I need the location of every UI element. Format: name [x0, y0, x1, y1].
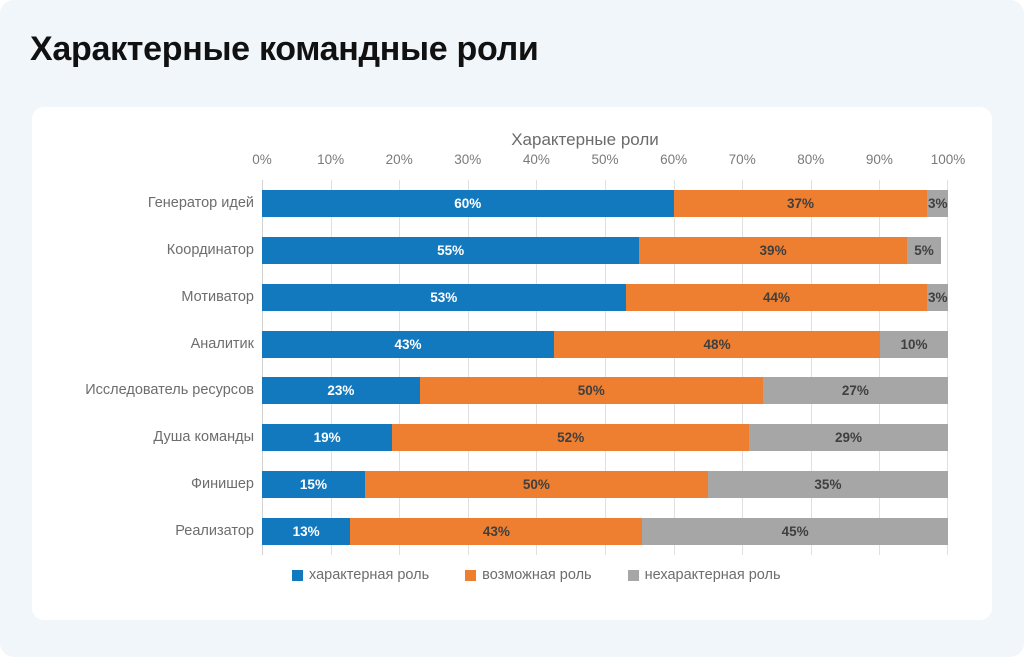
legend-item[interactable]: характерная роль	[292, 567, 429, 583]
category-label: Душа команды	[153, 424, 254, 451]
chart-title-text: Характерные роли	[511, 130, 659, 149]
page-root: Характерные командные роли Характерные р…	[0, 0, 1024, 657]
bar-segment[interactable]: 39%	[639, 237, 907, 264]
bar-row[interactable]: 55%39%5%	[262, 237, 948, 264]
bar-segment[interactable]: 3%	[927, 190, 948, 217]
bar-segment[interactable]: 43%	[350, 518, 642, 545]
x-tick-label: 10%	[317, 152, 344, 167]
bar-segment[interactable]: 45%	[642, 518, 948, 545]
x-tick-label: 70%	[729, 152, 756, 167]
chart-legend: характерная рольвозможная рольнехарактер…	[262, 567, 948, 583]
x-tick-label: 40%	[523, 152, 550, 167]
bar-value-label: 10%	[901, 337, 928, 352]
bar-value-label: 5%	[914, 243, 934, 258]
bar-value-label: 53%	[430, 290, 457, 305]
bar-value-label: 15%	[300, 477, 327, 492]
bar-value-label: 13%	[293, 524, 320, 539]
category-label: Исследователь ресурсов	[85, 377, 254, 404]
bar-segment[interactable]: 53%	[262, 284, 626, 311]
bar-row[interactable]: 60%37%3%	[262, 190, 948, 217]
bar-segment[interactable]: 50%	[365, 471, 708, 498]
bar-segment[interactable]: 48%	[554, 331, 880, 358]
x-axis-tick-labels: 0%10%20%30%40%50%60%70%80%90%100%	[262, 152, 948, 170]
x-tick-label: 30%	[454, 152, 481, 167]
bar-value-label: 43%	[395, 337, 422, 352]
legend-label: возможная роль	[482, 567, 591, 583]
category-label: Аналитик	[191, 331, 254, 358]
bar-row[interactable]: 43%48%10%	[262, 331, 948, 358]
category-axis-labels: Генератор идейКоординаторМотиваторАналит…	[32, 180, 254, 555]
page-title: Характерные командные роли	[30, 30, 538, 69]
x-tick-label: 100%	[931, 152, 966, 167]
bar-segment[interactable]: 44%	[626, 284, 928, 311]
legend-item[interactable]: нехарактерная роль	[628, 567, 781, 583]
bar-segment[interactable]: 10%	[880, 331, 948, 358]
legend-label: нехарактерная роль	[645, 567, 781, 583]
category-label: Финишер	[191, 471, 254, 498]
bar-value-label: 3%	[928, 290, 948, 305]
bar-segment[interactable]: 19%	[262, 424, 392, 451]
x-tick-label: 80%	[797, 152, 824, 167]
bar-row[interactable]: 23%50%27%	[262, 377, 948, 404]
legend-swatch-icon	[292, 570, 303, 581]
x-tick-label: 60%	[660, 152, 687, 167]
bar-segment[interactable]: 3%	[927, 284, 948, 311]
legend-label: характерная роль	[309, 567, 429, 583]
bar-value-label: 50%	[523, 477, 550, 492]
bar-value-label: 55%	[437, 243, 464, 258]
bar-value-label: 35%	[814, 477, 841, 492]
bar-row[interactable]: 53%44%3%	[262, 284, 948, 311]
bar-segment[interactable]: 37%	[674, 190, 928, 217]
bar-value-label: 45%	[782, 524, 809, 539]
x-tick-label: 20%	[386, 152, 413, 167]
bar-segment[interactable]: 50%	[420, 377, 763, 404]
bar-segment[interactable]: 55%	[262, 237, 639, 264]
bar-rows: 60%37%3%55%39%5%53%44%3%43%48%10%23%50%2…	[262, 180, 948, 555]
x-tick-label: 50%	[591, 152, 618, 167]
bar-row[interactable]: 19%52%29%	[262, 424, 948, 451]
bar-value-label: 39%	[760, 243, 787, 258]
bar-value-label: 19%	[314, 430, 341, 445]
category-label: Мотиватор	[181, 284, 254, 311]
category-label: Генератор идей	[148, 190, 254, 217]
bar-row[interactable]: 15%50%35%	[262, 471, 948, 498]
bar-value-label: 29%	[835, 430, 862, 445]
bar-value-label: 52%	[557, 430, 584, 445]
bar-value-label: 37%	[787, 196, 814, 211]
chart-card: Характерные роли 0%10%20%30%40%50%60%70%…	[32, 107, 992, 620]
bar-segment[interactable]: 5%	[907, 237, 941, 264]
bar-segment[interactable]: 23%	[262, 377, 420, 404]
bar-segment[interactable]: 27%	[763, 377, 948, 404]
bar-row[interactable]: 13%43%45%	[262, 518, 948, 545]
category-label: Реализатор	[175, 518, 254, 545]
bar-value-label: 44%	[763, 290, 790, 305]
bar-segment[interactable]: 15%	[262, 471, 365, 498]
bar-value-label: 50%	[578, 383, 605, 398]
x-tick-label: 0%	[252, 152, 272, 167]
bar-segment[interactable]: 35%	[708, 471, 948, 498]
bar-value-label: 3%	[928, 196, 948, 211]
bar-value-label: 23%	[327, 383, 354, 398]
bar-value-label: 60%	[454, 196, 481, 211]
legend-swatch-icon	[465, 570, 476, 581]
chart-title: Характерные роли	[32, 130, 992, 150]
bar-segment[interactable]: 60%	[262, 190, 674, 217]
x-tick-label: 90%	[866, 152, 893, 167]
bar-segment[interactable]: 43%	[262, 331, 554, 358]
category-label: Координатор	[167, 237, 254, 264]
plot-area: 60%37%3%55%39%5%53%44%3%43%48%10%23%50%2…	[262, 180, 948, 555]
bar-value-label: 43%	[483, 524, 510, 539]
bar-value-label: 48%	[704, 337, 731, 352]
bar-segment[interactable]: 52%	[392, 424, 749, 451]
legend-swatch-icon	[628, 570, 639, 581]
legend-item[interactable]: возможная роль	[465, 567, 591, 583]
bar-value-label: 27%	[842, 383, 869, 398]
bar-segment[interactable]: 29%	[749, 424, 948, 451]
bar-segment[interactable]: 13%	[262, 518, 350, 545]
